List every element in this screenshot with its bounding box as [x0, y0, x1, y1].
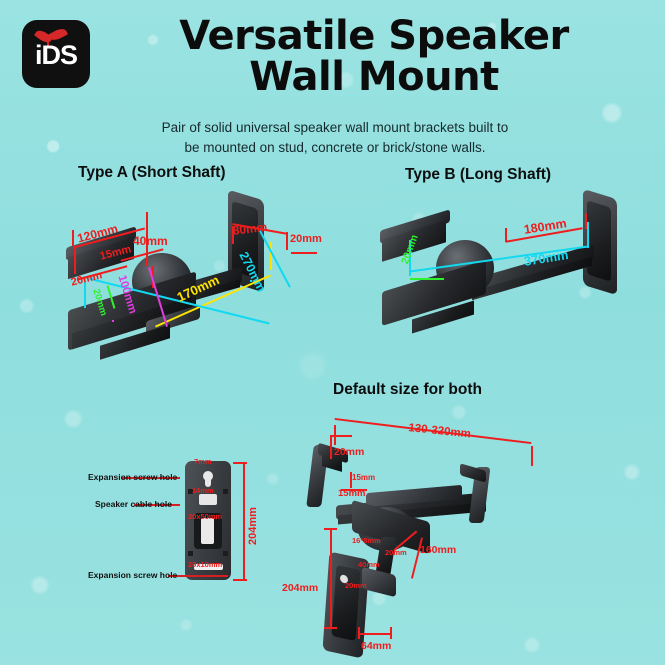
dimension-tick: [233, 462, 247, 464]
dimension-line: [410, 278, 444, 280]
dimension-tick: [587, 222, 589, 248]
dimension-tick: [358, 627, 360, 639]
type-b-illustration: [378, 192, 640, 352]
page-title-line1: Versatile Speaker: [100, 16, 648, 57]
dimension-label: 20mm: [385, 549, 407, 557]
page-title-line2: Wall Mount: [100, 57, 648, 98]
dimension-label: 40mm: [358, 561, 380, 569]
dimension-tick: [112, 320, 114, 322]
page-title: Versatile Speaker Wall Mount: [100, 16, 648, 98]
brand-logo-text: iDS: [22, 40, 90, 71]
page-subtitle: Pair of solid universal speaker wall mou…: [95, 118, 575, 157]
dimension-label: 14mm: [192, 487, 214, 495]
section-heading-type-a: Type A (Short Shaft): [78, 164, 226, 182]
dimension-tick: [330, 435, 332, 459]
dimension-label: 20mm: [290, 234, 322, 245]
dimension-label: 20mm: [345, 582, 367, 590]
section-heading-type-b: Type B (Long Shaft): [405, 166, 551, 184]
dimension-tick: [233, 579, 247, 581]
dimension-tick: [531, 446, 533, 466]
dimension-tick: [84, 282, 86, 308]
dimension-label: 20x10mm: [188, 561, 222, 569]
section-heading-default-size: Default size for both: [333, 381, 482, 399]
dimension-line: [291, 252, 317, 254]
dimension-label: 160mm: [420, 545, 456, 556]
dimension-tick: [72, 230, 74, 246]
brand-logo: iDS: [22, 20, 90, 88]
page-subtitle-line2: be mounted on stud, concrete or brick/st…: [95, 138, 575, 158]
callout-label-expansion-screw-hole-top: Expansion screw hole: [88, 472, 177, 482]
callout-label-speaker-cable-hole: Speaker cable hole: [95, 499, 172, 509]
dimension-tick: [390, 627, 392, 639]
dimension-label: 64mm: [361, 641, 391, 652]
dimension-label: 204mm: [248, 507, 259, 545]
infographic-page: iDS Versatile Speaker Wall Mount Pair of…: [0, 0, 665, 665]
callout-label-expansion-screw-hole-bottom: Expansion screw hole: [88, 570, 177, 580]
dimension-label: 15mm: [338, 489, 365, 499]
dimension-tick: [505, 228, 507, 242]
dimension-tick: [324, 528, 337, 530]
page-subtitle-line1: Pair of solid universal speaker wall mou…: [95, 118, 575, 138]
dimension-tick: [146, 212, 148, 234]
dimension-label: 7mm: [194, 458, 212, 466]
dimension-label: 204mm: [282, 583, 318, 594]
dimension-label: 16*8mm: [352, 537, 381, 545]
dimension-line: [330, 528, 332, 628]
dimension-label: 20x50mm: [188, 513, 222, 521]
dimension-label: 40mm: [133, 235, 168, 247]
dimension-tick: [74, 246, 76, 274]
dimension-tick: [286, 232, 288, 250]
dimension-line: [358, 633, 392, 635]
dimension-tick: [324, 627, 337, 629]
dimension-tick: [330, 435, 352, 437]
dimension-label: 20mm: [334, 447, 364, 458]
dimension-line: [243, 462, 245, 580]
dimension-label: 15mm: [352, 474, 375, 482]
